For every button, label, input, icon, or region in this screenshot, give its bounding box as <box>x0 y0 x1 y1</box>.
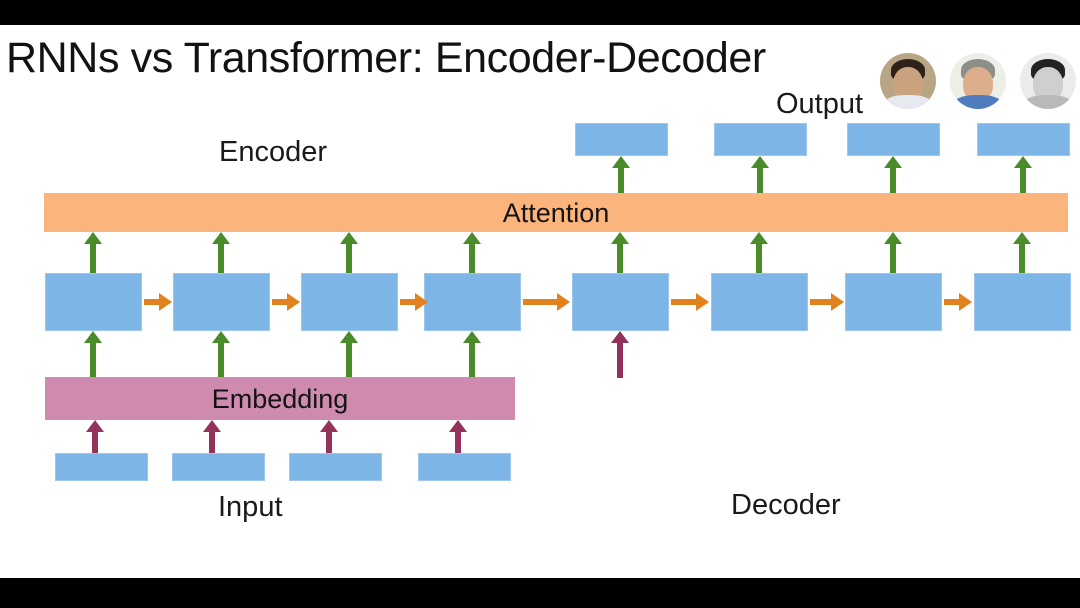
input-token-box <box>289 453 382 481</box>
rnn-cell-decoder <box>845 273 942 331</box>
arrow-shaft <box>218 340 224 377</box>
rnn-cell-decoder <box>974 273 1071 331</box>
rnn-cell-encoder <box>45 273 142 331</box>
arrow-shaft <box>469 340 475 377</box>
attention-label: Attention <box>503 198 610 228</box>
arrow-shaft <box>890 165 896 193</box>
avatar-highlight <box>950 67 959 93</box>
arrow-shaft <box>757 165 763 193</box>
avatar <box>950 53 1006 109</box>
letterbox-top <box>0 0 1080 25</box>
arrow-head <box>287 293 300 311</box>
label-encoder: Encoder <box>219 135 327 169</box>
output-token-box <box>714 123 807 156</box>
arrow-shaft <box>346 340 352 377</box>
arrow-shaft <box>346 241 352 273</box>
arrow-shaft <box>523 299 560 305</box>
avatar <box>880 53 936 109</box>
arrow-shaft <box>469 241 475 273</box>
slide-canvas: RNNs vs Transformer: Encoder-Decoder Enc… <box>0 25 1080 578</box>
arrow-head <box>159 293 172 311</box>
output-token-box <box>977 123 1070 156</box>
arrow-shaft <box>209 429 215 453</box>
label-input: Input <box>218 490 283 524</box>
attention-layer: Attention <box>44 193 1068 232</box>
arrow-head <box>696 293 709 311</box>
rnn-cell-encoder <box>173 273 270 331</box>
avatar-torso <box>952 95 1004 109</box>
rnn-cell-decoder <box>711 273 808 331</box>
avatar-torso <box>1022 95 1074 109</box>
label-output: Output <box>776 87 863 121</box>
arrow-shaft <box>92 429 98 453</box>
arrow-shaft <box>1020 165 1026 193</box>
arrow-shaft <box>671 299 699 305</box>
page-title: RNNs vs Transformer: Encoder-Decoder <box>6 31 766 85</box>
arrow-shaft <box>90 340 96 377</box>
input-token-box <box>172 453 265 481</box>
avatar-strip <box>880 53 1076 111</box>
rnn-cell-encoder <box>424 273 521 331</box>
input-token-box <box>418 453 511 481</box>
arrow-shaft <box>756 241 762 273</box>
letterbox-bottom <box>0 578 1080 608</box>
label-decoder: Decoder <box>731 488 841 522</box>
arrow-shaft <box>617 241 623 273</box>
arrow-shaft <box>455 429 461 453</box>
arrow-shaft <box>218 241 224 273</box>
arrow-shaft <box>890 241 896 273</box>
arrow-head <box>831 293 844 311</box>
arrow-head <box>557 293 570 311</box>
output-token-box <box>847 123 940 156</box>
output-token-box <box>575 123 668 156</box>
avatar <box>1020 53 1076 109</box>
arrow-shaft <box>617 340 623 378</box>
arrow-shaft <box>326 429 332 453</box>
slide-root: RNNs vs Transformer: Encoder-Decoder Enc… <box>0 0 1080 608</box>
embedding-label: Embedding <box>212 384 349 414</box>
arrow-head <box>959 293 972 311</box>
avatar-torso <box>882 95 934 109</box>
arrow-shaft <box>90 241 96 273</box>
embedding-layer: Embedding <box>45 377 515 420</box>
rnn-cell-decoder <box>572 273 669 331</box>
input-token-box <box>55 453 148 481</box>
arrow-head <box>415 293 428 311</box>
arrow-shaft <box>1019 241 1025 273</box>
arrow-shaft <box>618 165 624 193</box>
rnn-cell-encoder <box>301 273 398 331</box>
